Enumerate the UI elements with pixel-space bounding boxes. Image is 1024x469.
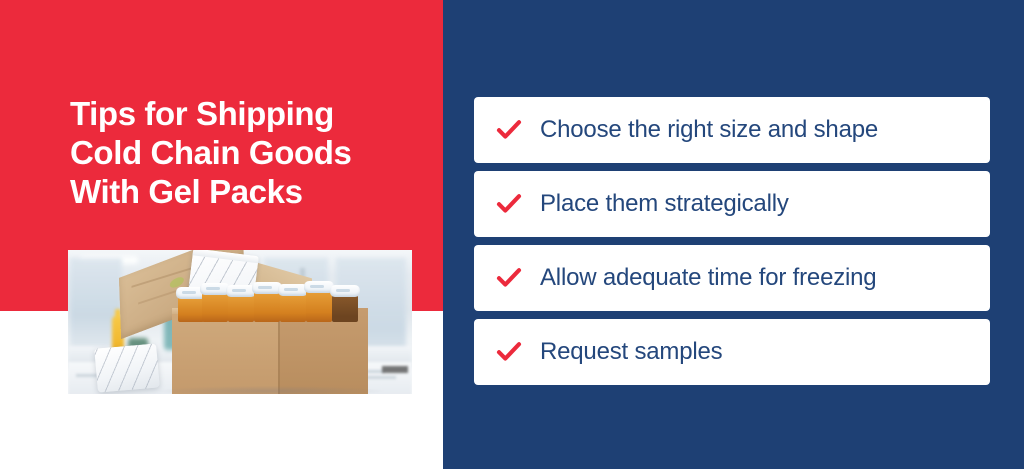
photo-pill-bottle — [178, 296, 204, 322]
photo-scene — [68, 250, 412, 394]
check-icon — [496, 265, 522, 291]
checklist-item-4[interactable]: Request samples — [474, 319, 990, 385]
photo-box-corner-edge — [278, 310, 280, 394]
checklist-item-label: Allow adequate time for freezing — [540, 265, 876, 291]
check-icon — [496, 117, 522, 143]
infographic-root: Tips for Shipping Cold Chain Goods With … — [0, 0, 1024, 469]
photo-box-shadow — [158, 386, 384, 394]
left-panel: Tips for Shipping Cold Chain Goods With … — [0, 0, 443, 469]
page-title: Tips for Shipping Cold Chain Goods With … — [70, 94, 430, 211]
photo-dark-object — [382, 366, 408, 373]
photo-bottle-cap — [330, 285, 360, 297]
photo-pill-bottle — [254, 291, 280, 322]
photo-pill-bottle — [306, 290, 332, 322]
photo-gel-pack-floor — [94, 343, 160, 392]
check-icon — [496, 339, 522, 365]
checklist-item-2[interactable]: Place them strategically — [474, 171, 990, 237]
checklist-item-label: Place them strategically — [540, 191, 789, 217]
product-photo — [68, 250, 412, 394]
checklist-item-1[interactable]: Choose the right size and shape — [474, 97, 990, 163]
check-icon — [496, 191, 522, 217]
photo-pill-bottle-group — [178, 286, 366, 322]
checklist-item-label: Choose the right size and shape — [540, 117, 878, 143]
checklist-item-3[interactable]: Allow adequate time for freezing — [474, 245, 990, 311]
photo-pill-bottle — [202, 292, 228, 322]
right-panel: Choose the right size and shape Place th… — [443, 0, 1024, 469]
photo-pill-bottle — [332, 294, 358, 322]
checklist-item-label: Request samples — [540, 339, 722, 365]
photo-pill-bottle — [228, 294, 254, 322]
photo-box-front-face — [172, 314, 280, 394]
photo-pill-bottle — [280, 293, 306, 322]
photo-cabinet-handle-3 — [364, 376, 396, 379]
tips-checklist: Choose the right size and shape Place th… — [474, 97, 990, 385]
